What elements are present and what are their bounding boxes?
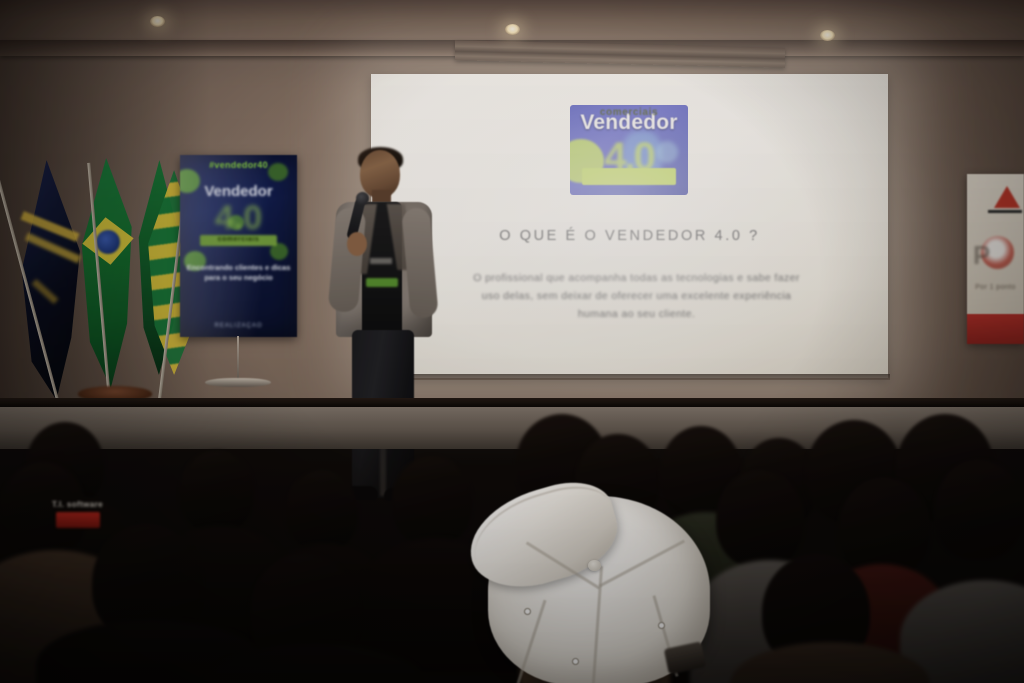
projection-screen-bottom-edge <box>371 374 890 380</box>
sponsor-letter-mark: P <box>973 240 990 271</box>
flag-brazil-globe <box>96 230 120 254</box>
slide-logo-tagline: comerciais <box>570 107 688 118</box>
audience-head <box>762 554 870 670</box>
audience-shoulders <box>0 550 150 683</box>
cap-eyelet <box>658 622 665 629</box>
rollup-footer: REALIZAÇÃO <box>186 323 291 329</box>
cap-eyelet <box>572 658 579 665</box>
audience-shoulders <box>206 644 426 683</box>
audience-head <box>838 478 930 578</box>
audience-tshirt-logo <box>56 512 100 528</box>
white-baseball-cap <box>460 470 710 683</box>
projection-screen: Vendedor 4.0 comerciais O QUE É O VENDED… <box>371 74 888 378</box>
microphone-head-icon <box>356 192 369 205</box>
rollup-strip-label: comerciais <box>180 236 297 243</box>
audience-shoulders <box>690 560 850 683</box>
rollup-base <box>205 378 271 387</box>
audience-head <box>934 460 1024 560</box>
presenter-hand <box>347 232 367 256</box>
rollup-subtext: Encontrando clientes e dicas para o seu … <box>186 263 291 283</box>
presentation-photo-scene: #vendedor40 Vendedor 4.0 comerciais Enco… <box>0 0 1024 683</box>
sponsor-caption: Por 1 ponto <box>967 284 1024 291</box>
audience-head <box>250 554 360 670</box>
audience-head <box>92 524 202 642</box>
presenter <box>318 150 448 510</box>
audience-head <box>716 470 804 568</box>
rollup-brand: Vendedor <box>180 183 297 200</box>
audience-head <box>0 462 86 558</box>
cap-eyelet <box>524 608 531 615</box>
slide-logo: Vendedor 4.0 comerciais <box>570 105 688 195</box>
slide-body: O profissional que acompanha todas as te… <box>429 269 844 323</box>
sponsor-banner-base <box>967 314 1024 344</box>
slide-body-line-1: O profissional que acompanha todas as te… <box>473 272 800 284</box>
stage-front-face <box>0 407 1024 449</box>
slide-logo-banner <box>582 168 676 185</box>
audience-shoulders <box>900 580 1024 683</box>
slide-title: O QUE É O VENDEDOR 4.0 ? <box>371 228 888 244</box>
presenter-lanyard <box>370 258 392 264</box>
rollup-hashtag: #vendedor40 <box>180 160 297 170</box>
audience-shoulders <box>812 564 952 683</box>
rollup-version: 4.0 <box>180 199 297 238</box>
sponsor-triangle-icon <box>994 186 1020 208</box>
cap-top-button <box>588 560 601 571</box>
rollup-pole <box>237 336 239 382</box>
rollup-banner-vendedor: #vendedor40 Vendedor 4.0 comerciais Enco… <box>180 155 297 337</box>
audience-head <box>740 438 818 528</box>
audience-shoulders <box>146 526 296 656</box>
sponsor-underline <box>988 210 1022 213</box>
presenter-shoe-left <box>348 486 378 500</box>
audience-shoulders <box>730 642 930 683</box>
presenter-shoe-right <box>384 488 414 501</box>
sponsor-banner: P Por 1 ponto <box>967 174 1024 344</box>
audience-shoulders <box>36 620 266 683</box>
audience-tshirt-text: T.I. software <box>52 500 103 509</box>
audience-shoulders <box>254 544 394 672</box>
ceiling-spot-center <box>505 24 520 35</box>
stage-lip <box>0 398 1024 407</box>
slide-body-line-2: uso delas, sem deixar de oferecer uma ex… <box>482 290 792 302</box>
presenter-badge <box>366 278 398 287</box>
audience-head <box>180 450 254 534</box>
slide-body-line-3: humana ao seu cliente. <box>578 308 695 320</box>
